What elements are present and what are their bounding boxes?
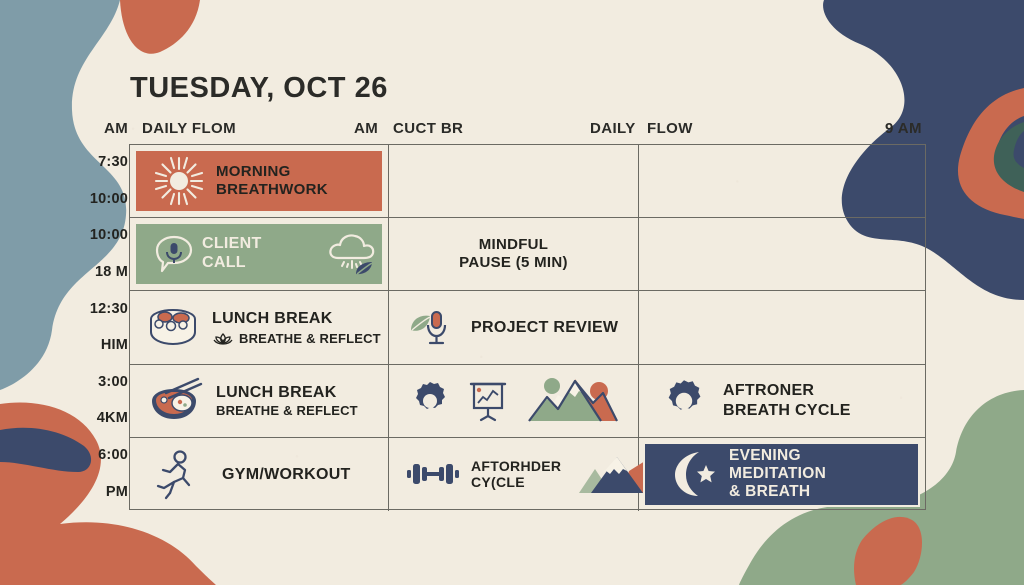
schedule-cell[interactable]: AFTRONER BREATH CYCLE [639, 365, 924, 437]
schedule-cell[interactable]: PROJECT REVIEW [389, 291, 639, 363]
time-label-bottom: PM [106, 484, 128, 500]
time-label-bottom: 18 M [95, 264, 128, 280]
schedule-cell-empty[interactable] [639, 145, 924, 217]
event-label: GYM/WORKOUT [222, 465, 351, 484]
column-header-daily: DAILY [590, 120, 636, 137]
event-afternoon-cycle[interactable]: AFTORHDER CY(CLE [389, 451, 638, 497]
schedule-row: LUNCH BREAK [130, 291, 925, 364]
mountains-icon [525, 375, 621, 427]
schedule-row: LUNCH BREAK BREATHE & REFLECT [130, 365, 925, 438]
schedule-grid: MORNING BREATHWORK C [129, 144, 926, 510]
column-header-flow: FLOW [647, 120, 693, 137]
schedule-row: MORNING BREATHWORK [130, 145, 925, 218]
schedule-cell[interactable]: LUNCH BREAK BREATHE & REFLECT [130, 365, 389, 437]
event-label: MORNING BREATHWORK [216, 163, 328, 198]
gear-icon [409, 380, 451, 422]
presentation-chart-icon [465, 378, 511, 424]
column-header-am-1: AM [104, 120, 128, 137]
dumbbell-icon [405, 458, 461, 490]
event-label: MINDFUL PAUSE (5 MIN) [459, 236, 568, 272]
event-label: PROJECT REVIEW [471, 318, 618, 337]
event-gym-workout[interactable]: GYM/WORKOUT [130, 448, 388, 500]
time-slot: 10:00 18 M [84, 217, 128, 290]
schedule-cell[interactable]: EVENING MEDITATION & BREATH [639, 438, 924, 511]
column-header-am-2: AM [354, 120, 378, 137]
column-headers: AM DAILY FLOM AM CUCT BR DAILY FLOW 9 AM [96, 120, 926, 142]
event-label: AFTRONER BREATH CYCLE [723, 381, 851, 419]
leaf-mic-icon [407, 304, 453, 350]
event-mindful-pause[interactable]: MINDFUL PAUSE (5 MIN) [389, 236, 638, 272]
schedule-row: GYM/WORKOUT [130, 438, 925, 511]
time-label-bottom: 4KM [97, 410, 128, 426]
event-label: LUNCH BREAK [212, 309, 381, 328]
event-icons-group[interactable] [389, 375, 638, 427]
schedule-cell[interactable]: CLIENT CALL [130, 218, 389, 290]
time-label-top: 7:30 [98, 154, 128, 170]
time-label-bottom: HIM [101, 337, 128, 353]
schedule-row: CLIENT CALL [130, 218, 925, 291]
event-label: EVENING MEDITATION & BREATH [729, 447, 826, 502]
schedule-cell[interactable]: GYM/WORKOUT [130, 438, 389, 511]
lotus-icon [212, 331, 234, 345]
event-sublabel: BREATHE & REFLECT [216, 403, 358, 418]
event-block-morning-breathwork[interactable]: MORNING BREATHWORK [134, 149, 384, 213]
time-slot: 7:30 10:00 [84, 144, 128, 217]
column-header-cuct-br: CUCT BR [393, 120, 463, 137]
crescent-moon-star-icon [665, 448, 721, 500]
speech-mic-icon [154, 233, 194, 275]
cloud-leaf-icon [326, 230, 382, 278]
schedule-cell[interactable]: AFTORHDER CY(CLE [389, 438, 639, 511]
event-sublabel: BREATHE & REFLECT [239, 331, 381, 346]
time-label-top: 3:00 [98, 374, 128, 390]
event-block-client-call[interactable]: CLIENT CALL [134, 222, 384, 286]
time-slot: 6:00 PM [84, 437, 128, 510]
sushi-bowl-icon [144, 375, 206, 427]
time-label-bottom: 10:00 [90, 191, 128, 207]
time-label-top: 10:00 [90, 227, 128, 243]
schedule-cell-empty[interactable] [639, 291, 924, 363]
schedule-cell[interactable]: MINDFUL PAUSE (5 MIN) [389, 218, 639, 290]
event-lunch-break-2[interactable]: LUNCH BREAK BREATHE & REFLECT [130, 375, 388, 427]
event-block-evening-meditation[interactable]: EVENING MEDITATION & BREATH [643, 442, 920, 507]
event-label: AFTORHDER CY(CLE [471, 458, 561, 492]
time-label-top: 12:30 [90, 301, 128, 317]
sun-icon [152, 154, 206, 208]
schedule-cell[interactable]: MORNING BREATHWORK [130, 145, 389, 217]
column-header-9-am: 9 AM [885, 120, 922, 137]
time-slot: 3:00 4KM [84, 364, 128, 437]
event-label: CLIENT CALL [202, 235, 308, 273]
event-afternoon-breath-cycle[interactable]: AFTRONER BREATH CYCLE [639, 378, 924, 424]
running-person-icon [152, 448, 200, 500]
column-header-daily-flom: DAILY FLOM [142, 120, 236, 137]
time-label-top: 6:00 [98, 447, 128, 463]
schedule-cell-empty[interactable] [639, 218, 924, 290]
page-title: TUESDAY, OCT 26 [130, 72, 388, 105]
schedule-cell[interactable] [389, 365, 639, 437]
time-slot: 12:30 HIM [84, 290, 128, 363]
schedule-cell[interactable]: LUNCH BREAK [130, 291, 389, 363]
event-label: LUNCH BREAK [216, 383, 358, 402]
event-project-review[interactable]: PROJECT REVIEW [389, 304, 638, 350]
time-rail: 7:30 10:00 10:00 18 M 12:30 HIM 3:00 4KM… [84, 144, 128, 510]
bento-bowl-icon [144, 302, 202, 352]
schedule-cell-empty[interactable] [389, 145, 639, 217]
event-lunch-break-1[interactable]: LUNCH BREAK [130, 302, 388, 352]
gear-icon [661, 378, 707, 424]
